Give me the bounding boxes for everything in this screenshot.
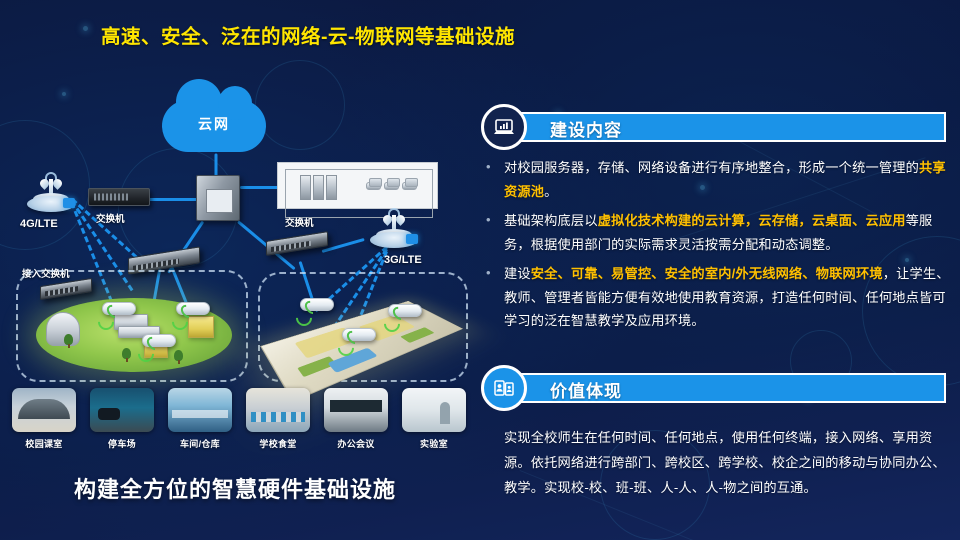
thumbnail-item[interactable]: 车间/仓库 <box>168 388 232 450</box>
bullet-text: 基础架构底层以虚拟化技术构建的云计算，云存储，云桌面、云应用等服务，根据使用部门… <box>504 213 932 252</box>
switch-top-icon <box>88 188 150 206</box>
server-storage-panel <box>277 162 438 209</box>
link-cloud-router <box>215 154 218 178</box>
core-router-icon <box>196 175 240 221</box>
thumbnail-image-parking <box>90 388 154 432</box>
campus-building-c <box>188 316 214 338</box>
bullet-item: 建设安全、可靠、易管控、安全的室内/外无线网络、物联网环境，让学生、教师、管理者… <box>478 262 956 333</box>
thumbnail-caption: 校园课室 <box>12 437 76 450</box>
wireless-ap-icon <box>102 302 136 315</box>
section-title: 建设内容 <box>550 116 622 141</box>
cloud-shape: 云网 <box>162 100 266 152</box>
thumbnail-caption: 停车场 <box>90 437 154 450</box>
network-topology-diagram: 云网 交换机 交换机 接入交换机 4G/LTE <box>0 70 470 540</box>
thumbnail-image-canteen <box>246 388 310 432</box>
indoor-floorplan <box>260 301 463 402</box>
wireless-ap-icon <box>176 302 210 315</box>
bullet-text: 对校园服务器，存储、网络设备进行有序地整合，形成一个统一管理的共享资源池。 <box>504 160 946 199</box>
thumbnail-image-workshop <box>168 388 232 432</box>
wireless-ap-icon <box>300 298 334 311</box>
link-rightswitch-3g <box>322 238 365 253</box>
thumbnail-item[interactable]: 校园课室 <box>12 388 76 450</box>
campus-edge-switch-icon <box>40 278 92 300</box>
thumbnail-caption: 办公会议 <box>324 437 388 450</box>
scenario-thumbnail-strip: 校园课室 停车场 车间/仓库 学校食堂 办公会议 实验室 <box>12 388 468 458</box>
tree-icon <box>64 334 73 345</box>
bullet-item: 对校园服务器，存储、网络设备进行有序地整合，形成一个统一管理的共享资源池。 <box>478 156 956 203</box>
switch-top-label: 交换机 <box>96 211 125 225</box>
tower-4g-icon <box>27 170 75 214</box>
devices-people-icon <box>481 365 527 411</box>
link-switch-router <box>148 198 198 201</box>
tower-3g-icon <box>370 206 418 250</box>
thumbnail-caption: 学校食堂 <box>246 437 310 450</box>
thumbnail-image-classroom <box>12 388 76 432</box>
slide-canvas: 高速、安全、泛在的网络-云-物联网等基础设施 云网 交换机 <box>0 0 960 540</box>
wireless-ap-icon <box>142 334 176 347</box>
thumbnail-caption: 车间/仓库 <box>168 437 232 450</box>
thumbnail-item[interactable]: 实验室 <box>402 388 466 450</box>
thumbnail-image-lab <box>402 388 466 432</box>
outdoor-coverage-zone <box>16 270 248 382</box>
section-header-construction: 建设内容 <box>478 104 948 150</box>
tree-icon <box>174 350 183 361</box>
thumbnail-item[interactable]: 办公会议 <box>324 388 388 450</box>
cloud-label: 云网 <box>162 114 266 134</box>
section-header-value: 价值体现 <box>478 365 948 411</box>
content-panels: 建设内容 对校园服务器，存储、网络设备进行有序地整合，形成一个统一管理的共享资源… <box>478 0 960 540</box>
switch-right-label: 交换机 <box>285 215 314 229</box>
label-4g-lte: 4G/LTE <box>20 218 58 230</box>
laptop-chart-icon <box>481 104 527 150</box>
campus-dome-building <box>46 312 80 346</box>
thumbnail-item[interactable]: 停车场 <box>90 388 154 450</box>
label-3g-lte: 3G/LTE <box>384 254 422 266</box>
bullet-text: 建设安全、可靠、易管控、安全的室内/外无线网络、物联网环境，让学生、教师、管理者… <box>504 266 950 328</box>
wireless-ap-icon <box>342 328 376 341</box>
thumbnail-image-meeting <box>324 388 388 432</box>
tree-icon <box>122 348 131 359</box>
section-title: 价值体现 <box>550 377 622 402</box>
bullet-item: 基础架构底层以虚拟化技术构建的云计算，云存储，云桌面、云应用等服务，根据使用部门… <box>478 209 956 256</box>
switch-right-icon <box>266 231 328 256</box>
thumbnail-caption: 实验室 <box>402 437 466 450</box>
bottom-caption: 构建全方位的智慧硬件基础设施 <box>0 472 470 504</box>
page-title: 高速、安全、泛在的网络-云-物联网等基础设施 <box>101 20 515 49</box>
wireless-ap-icon <box>388 304 422 317</box>
construction-bullet-list: 对校园服务器，存储、网络设备进行有序地整合，形成一个统一管理的共享资源池。 基础… <box>478 156 956 339</box>
link-router-servers <box>240 186 280 189</box>
thumbnail-item[interactable]: 学校食堂 <box>246 388 310 450</box>
value-paragraph: 实现全校师生在任何时间、任何地点，使用任何终端，接入网络、享用资源。依托网络进行… <box>504 425 950 500</box>
indoor-coverage-zone <box>258 272 468 382</box>
